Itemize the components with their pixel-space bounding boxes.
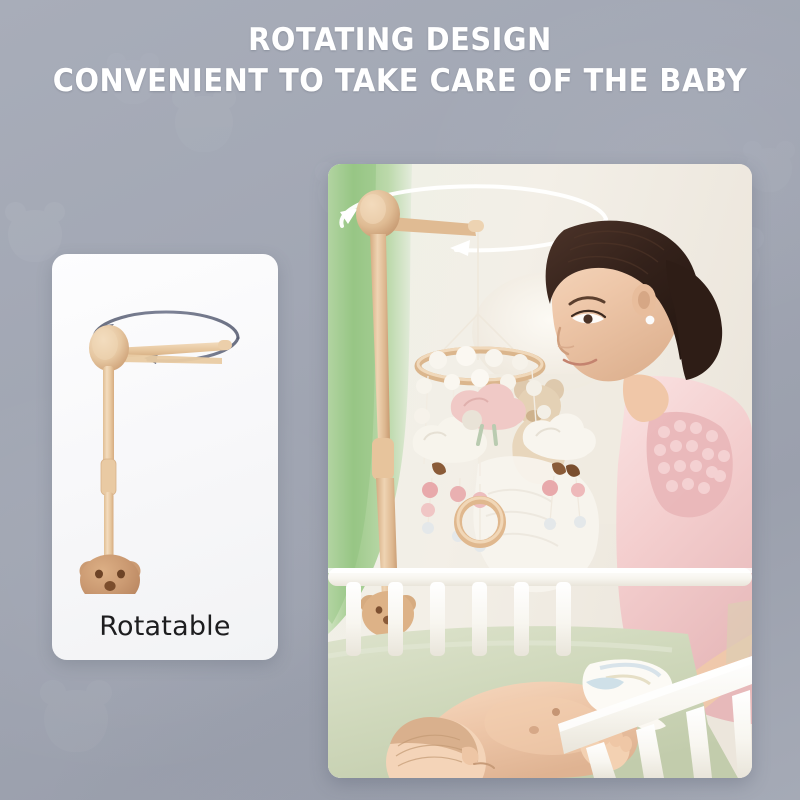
bear-head-watermark xyxy=(746,148,792,192)
feature-card-rotatable: Rotatable xyxy=(52,254,278,660)
feature-card-label: Rotatable xyxy=(52,611,278,642)
bear-head-watermark xyxy=(44,690,108,752)
headline: ROTATING DESIGN CONVENIENT TO TAKE CARE … xyxy=(28,20,772,102)
rotatable-mobile-arm-diagram xyxy=(52,254,278,594)
promo-page: ROTATING DESIGN CONVENIENT TO TAKE CARE … xyxy=(0,0,800,800)
bear-head-watermark xyxy=(175,96,233,152)
headline-line-2: CONVENIENT TO TAKE CARE OF THE BABY xyxy=(28,61,772,102)
headline-line-1: ROTATING DESIGN xyxy=(28,20,772,61)
photo-mother-and-baby xyxy=(328,164,752,778)
